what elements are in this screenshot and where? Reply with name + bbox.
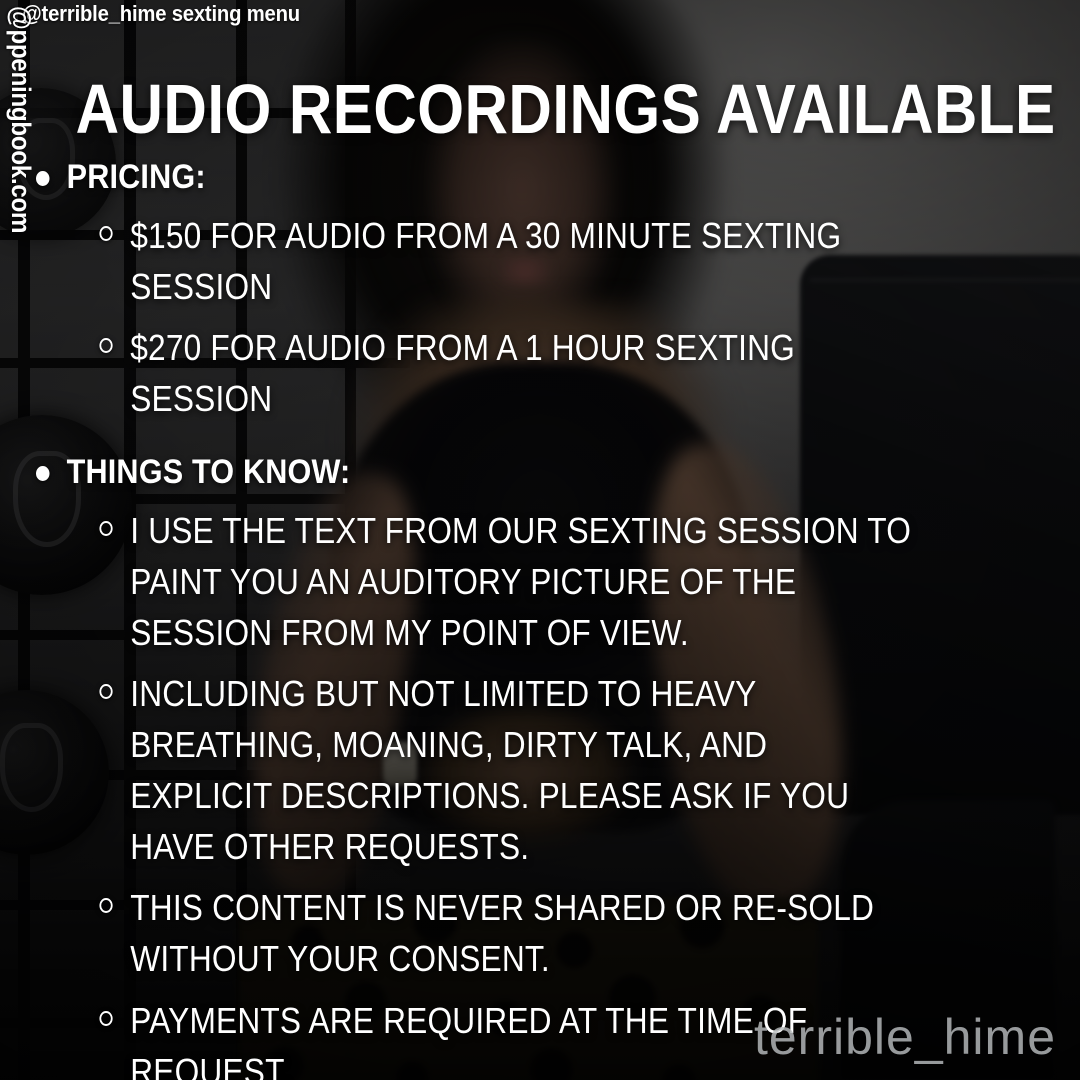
section-heading-label: THINGS TO KNOW:: [67, 453, 351, 491]
list-item-label: INCLUDING BUT NOT LIMITED TO HEAVY BREAT…: [130, 673, 849, 867]
menu-list: PRICING: $150 FOR AUDIO FROM A 30 MINUTE…: [0, 158, 1080, 1080]
list-item-label: PAYMENTS ARE REQUIRED AT THE TIME OF REQ…: [130, 1000, 807, 1080]
menu-content: AUDIO RECORDINGS AVAILABLE PRICING: $150…: [0, 0, 1080, 1080]
list-item: THIS CONTENT IS NEVER SHARED OR RE-SOLD …: [0, 882, 950, 984]
hollow-bullet-icon: [99, 226, 112, 241]
list-item-label: I USE THE TEXT FROM OUR SEXTING SESSION …: [130, 510, 911, 653]
filled-bullet-icon: [36, 466, 50, 481]
corner-watermark: terrible_hime: [754, 1008, 1056, 1066]
hollow-bullet-icon: [99, 521, 112, 536]
list-item: I USE THE TEXT FROM OUR SEXTING SESSION …: [0, 505, 950, 658]
top-handle-bar: @terrible_hime sexting menu: [0, 0, 1080, 30]
list-item-label: $270 FOR AUDIO FROM A 1 HOUR SEXTING SES…: [130, 327, 795, 419]
section-heading-label: PRICING:: [67, 158, 206, 196]
side-watermark-label: @ppeningbook.com: [5, 6, 36, 233]
list-item: INCLUDING BUT NOT LIMITED TO HEAVY BREAT…: [0, 668, 950, 872]
list-item: $150 FOR AUDIO FROM A 30 MINUTE SEXTING …: [0, 210, 950, 312]
hollow-bullet-icon: [99, 1011, 112, 1026]
section-heading-pricing: PRICING:: [0, 158, 972, 196]
section-spacer: [0, 435, 1080, 453]
list-item-label: $150 FOR AUDIO FROM A 30 MINUTE SEXTING …: [130, 215, 841, 307]
page-title: AUDIO RECORDINGS AVAILABLE: [76, 74, 1005, 144]
side-watermark: @ppeningbook.com: [0, 0, 40, 260]
section-heading-things-to-know: THINGS TO KNOW:: [0, 453, 972, 491]
hollow-bullet-icon: [99, 338, 112, 353]
list-item: $270 FOR AUDIO FROM A 1 HOUR SEXTING SES…: [0, 322, 950, 424]
handle-menu-label: @terrible_hime sexting menu: [22, 1, 300, 27]
hollow-bullet-icon: [99, 898, 112, 913]
list-item-label: THIS CONTENT IS NEVER SHARED OR RE-SOLD …: [130, 887, 874, 979]
sexting-menu-graphic: @terrible_hime sexting menu @ppeningbook…: [0, 0, 1080, 1080]
hollow-bullet-icon: [99, 684, 112, 699]
